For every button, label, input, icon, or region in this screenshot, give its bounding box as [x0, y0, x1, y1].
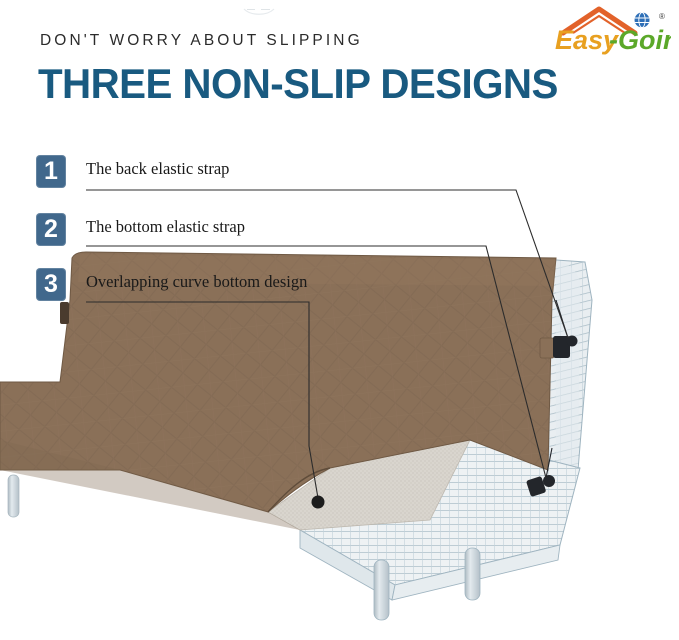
- futon-leg-left: [374, 560, 389, 620]
- futon-leg-right: [465, 548, 480, 600]
- cover-left-tab: [60, 302, 69, 324]
- feature-label-2: The bottom elastic strap: [86, 217, 245, 237]
- feature-label-3: Overlapping curve bottom design: [86, 272, 307, 292]
- feature-badge-3: 3: [36, 268, 66, 301]
- product-illustration: [0, 0, 679, 640]
- feature-badge-1: 1: [36, 155, 66, 188]
- futon-leg-far-left: [8, 475, 19, 517]
- overlapping-curve-callout-dot: [312, 496, 325, 509]
- feature-label-1: The back elastic strap: [86, 159, 229, 179]
- infographic-page: ® Easy -Going DON'T WORRY ABOUT SLIPPING…: [0, 0, 679, 640]
- feature-badge-2: 2: [36, 213, 66, 246]
